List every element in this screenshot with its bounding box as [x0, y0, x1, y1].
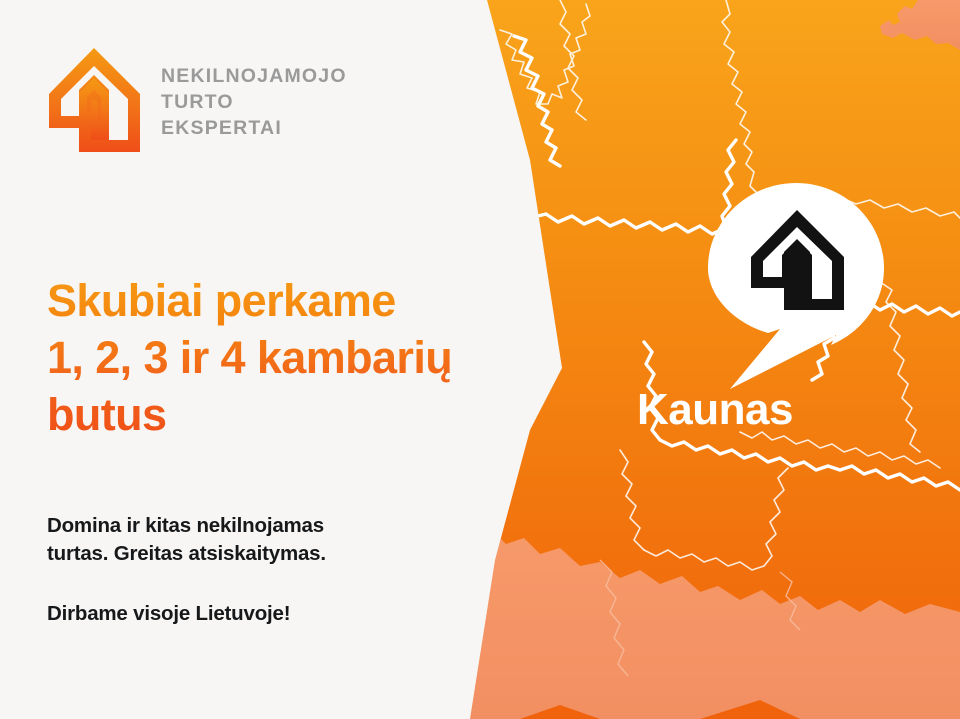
brand-word-1: NEKILNOJAMOJO	[161, 65, 347, 88]
subcopy-line-2: turtas. Greitas atsiskaitymas.	[47, 540, 477, 568]
headline-line-3: butus	[47, 386, 547, 443]
subcopy: Domina ir kitas nekilnojamas turtas. Gre…	[47, 512, 477, 628]
headline: Skubiai perkame 1, 2, 3 ir 4 kambarių bu…	[47, 272, 547, 443]
city-label-kaunas: Kaunas	[637, 385, 793, 435]
brand-wordmark: NEKILNOJAMOJO TURTO EKSPERTAI	[161, 61, 347, 140]
subcopy-block-1: Domina ir kitas nekilnojamas turtas. Gre…	[47, 512, 477, 568]
bubble-svg	[708, 183, 884, 393]
promo-banner: NEKILNOJAMOJO TURTO EKSPERTAI Skubiai pe…	[0, 0, 960, 719]
brand-word-3: EKSPERTAI	[161, 117, 347, 140]
house-logo-icon	[47, 46, 141, 154]
subcopy-line-1: Domina ir kitas nekilnojamas	[47, 512, 477, 540]
subcopy-block-2: Dirbame visoje Lietuvoje!	[47, 600, 477, 628]
brand-word-2: TURTO	[161, 91, 347, 114]
map-pin-bubble[interactable]	[708, 183, 884, 393]
headline-line-1: Skubiai perkame	[47, 272, 547, 329]
headline-line-2: 1, 2, 3 ir 4 kambarių	[47, 329, 547, 386]
subcopy-line-3: Dirbame visoje Lietuvoje!	[47, 600, 477, 628]
brand-logo[interactable]: NEKILNOJAMOJO TURTO EKSPERTAI	[47, 46, 347, 154]
